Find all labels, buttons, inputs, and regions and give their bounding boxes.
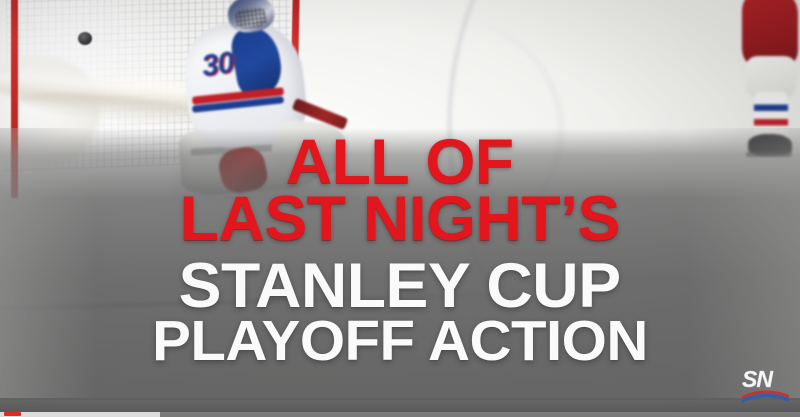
headline-block: ALL OF LAST NIGHT’S STANLEY CUP PLAYOFF … [0, 128, 800, 400]
headline-line-2: LAST NIGHT’S [180, 189, 620, 251]
sn-logo-swoosh [742, 391, 789, 403]
video-progress-bar[interactable] [0, 412, 800, 417]
svg-text:SN: SN [742, 366, 773, 392]
video-progress-played[interactable] [4, 412, 21, 416]
sportsnet-logo: SN [740, 365, 792, 405]
video-player-frame[interactable]: 30 ALL OF LAST NIGHT’S STANLEY CUP PLAYO… [0, 0, 800, 417]
headline-line-4: PLAYOFF ACTION [152, 314, 648, 370]
sn-logo-wordmark: SN [742, 366, 773, 392]
video-progress-buffered [0, 412, 160, 417]
